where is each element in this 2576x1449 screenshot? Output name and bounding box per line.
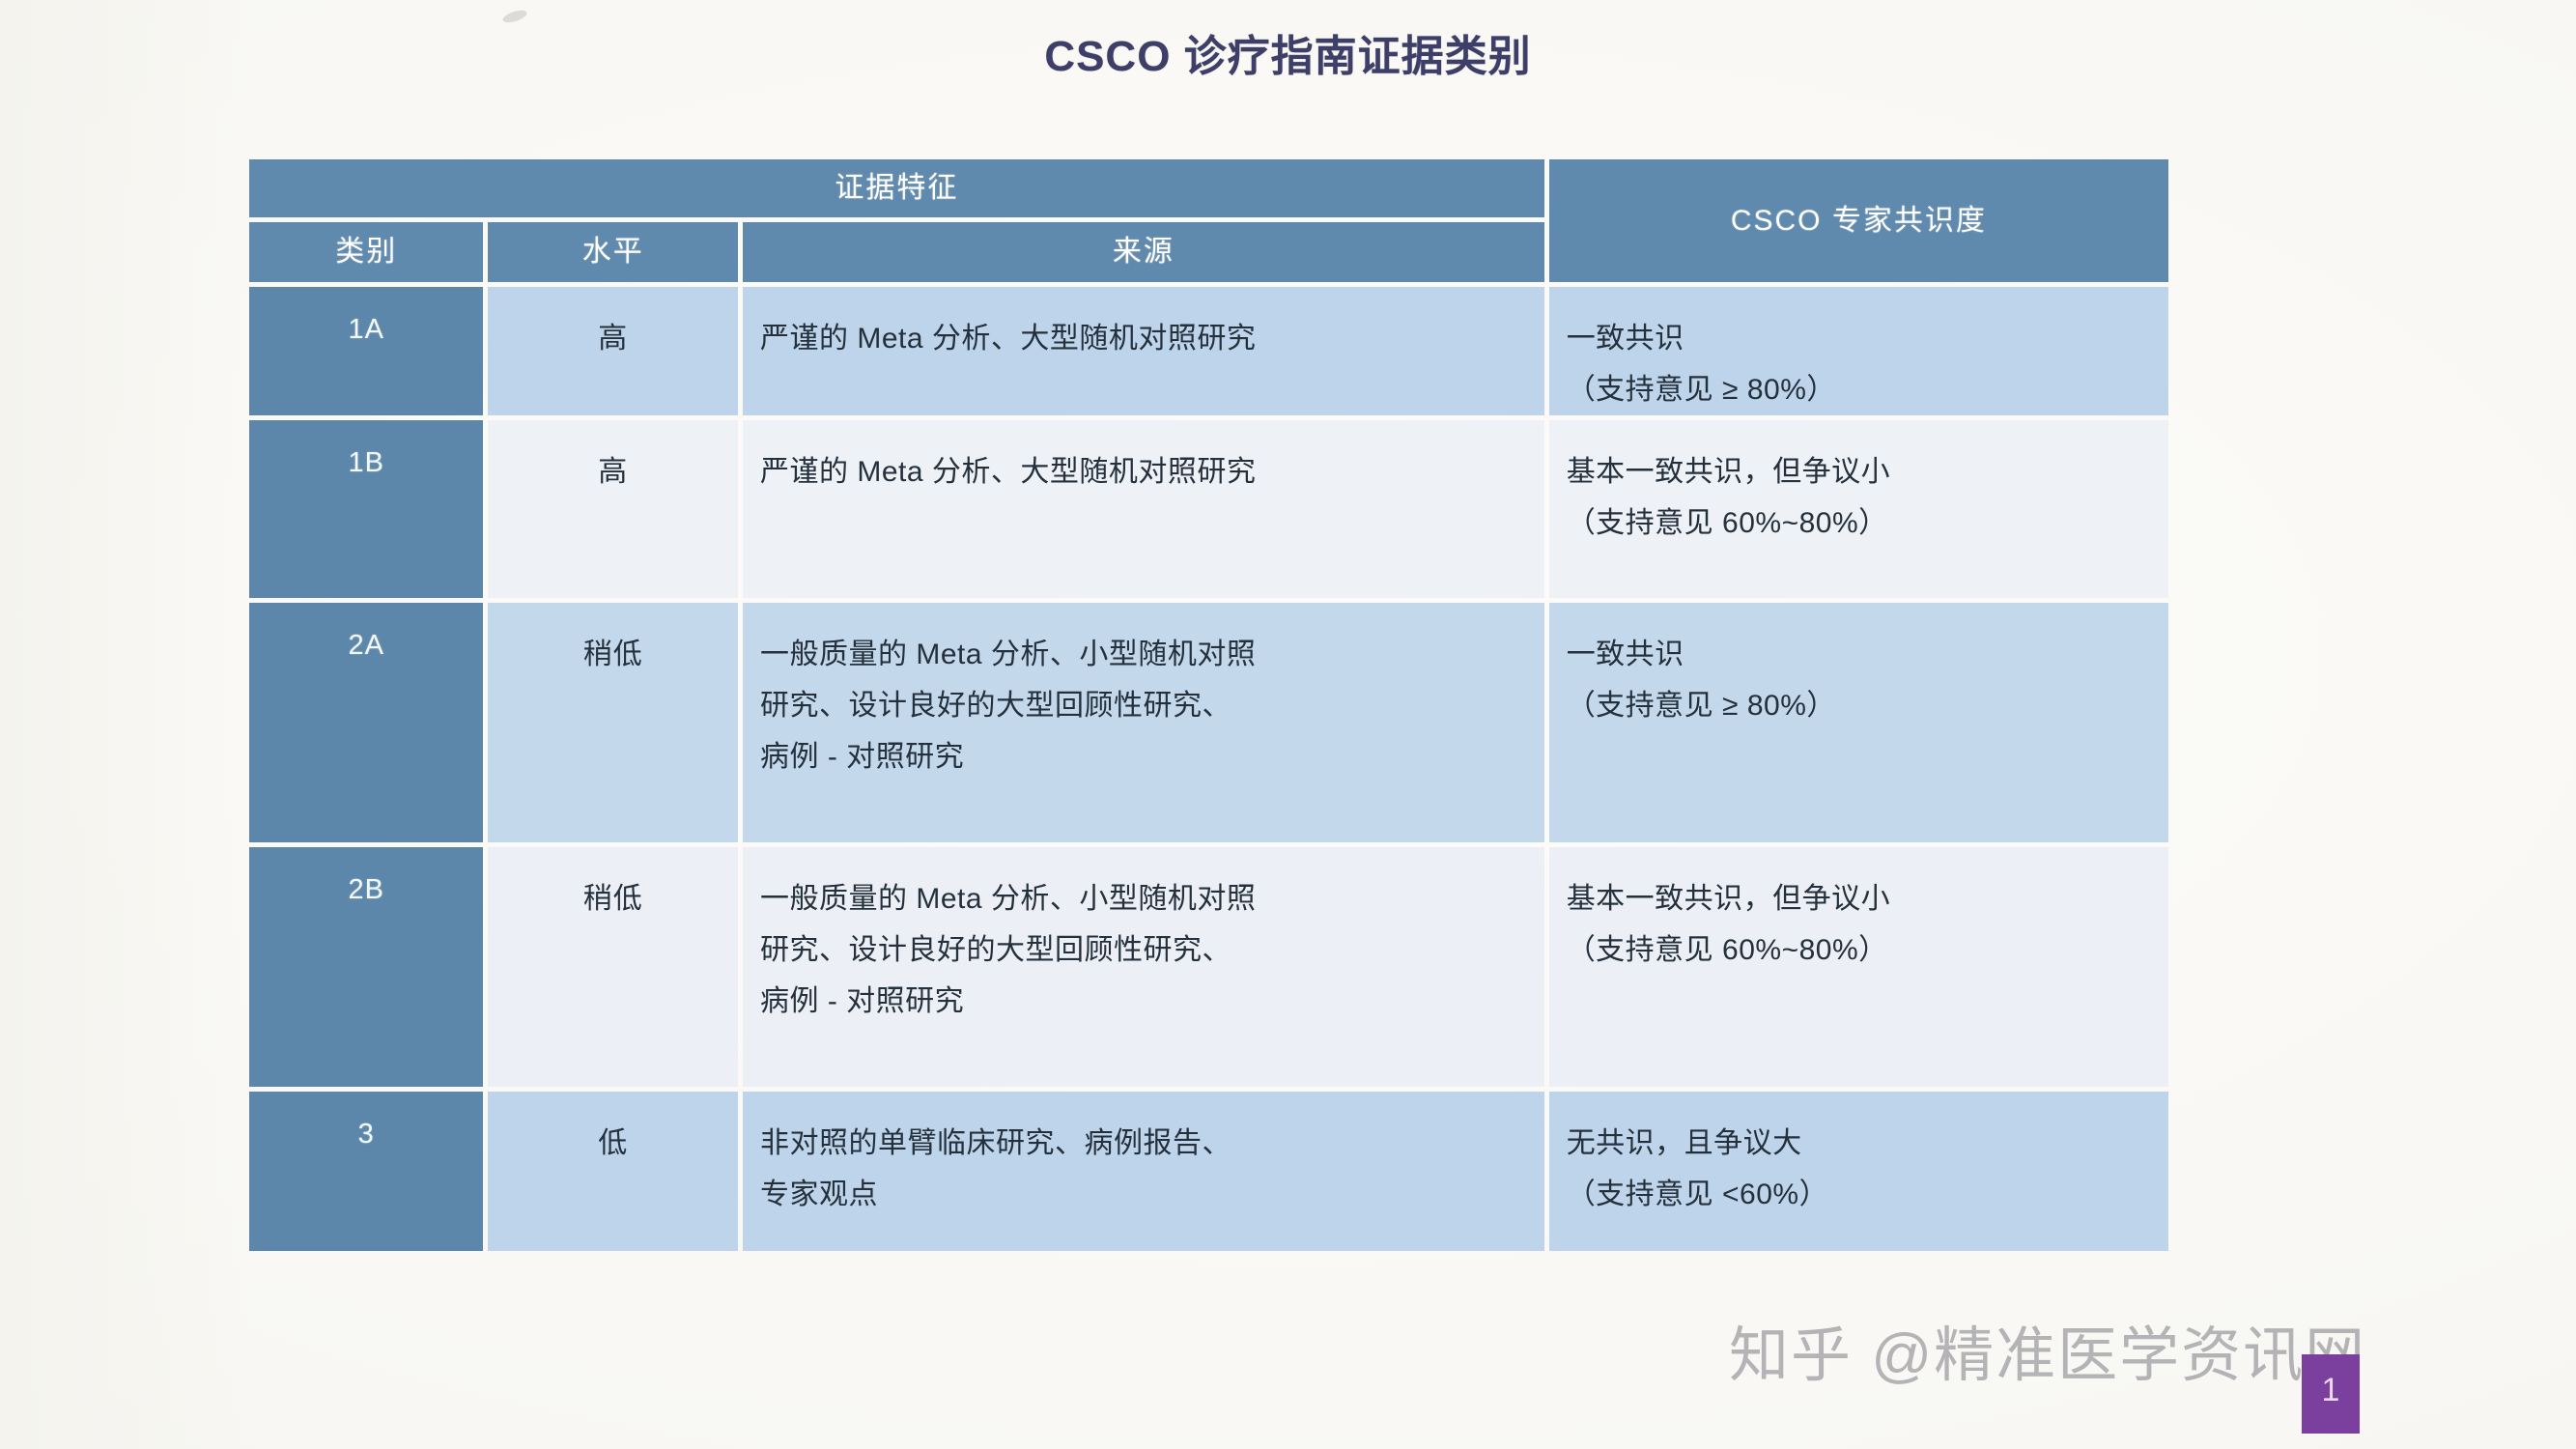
cell-category: 1B (249, 420, 483, 598)
consensus-line: 一致共识 (1567, 629, 2155, 680)
cell-consensus: 基本一致共识，但争议小 （支持意见 60%~80%） (1549, 420, 2168, 598)
page-number-badge: 1 (2302, 1354, 2360, 1434)
cell-level: 低 (488, 1092, 738, 1251)
level-label: 低 (488, 1092, 738, 1169)
table-row: 2B 稍低 一般质量的 Meta 分析、小型随机对照 研究、设计良好的大型回顾性… (249, 847, 2168, 1087)
header-category: 类别 (249, 222, 483, 282)
source-line: 严谨的 Meta 分析、大型随机对照研究 (760, 446, 1529, 497)
source-line: 一般质量的 Meta 分析、小型随机对照 (760, 629, 1529, 680)
header-level: 水平 (488, 222, 738, 282)
cell-level: 稍低 (488, 603, 738, 842)
cell-category: 2A (249, 603, 483, 842)
source-line: 一般质量的 Meta 分析、小型随机对照 (760, 873, 1529, 924)
cell-consensus: 基本一致共识，但争议小 （支持意见 60%~80%） (1549, 847, 2168, 1087)
consensus-line: （支持意见 ≥ 80%） (1567, 680, 2155, 731)
table-header-row-group: 证据特征 CSCO 专家共识度 (249, 159, 2168, 217)
consensus-line: （支持意见 ≥ 80%） (1567, 364, 2155, 415)
cell-source: 严谨的 Meta 分析、大型随机对照研究 (743, 287, 1544, 415)
cell-consensus: 一致共识 （支持意见 ≥ 80%） (1549, 603, 2168, 842)
header-csco-consensus: CSCO 专家共识度 (1549, 159, 2168, 282)
table-row: 1B 高 严谨的 Meta 分析、大型随机对照研究 基本一致共识，但争议小 （支… (249, 420, 2168, 598)
header-evidence-characteristics: 证据特征 (249, 159, 1544, 217)
cell-consensus: 无共识，且争议大 （支持意见 <60%） (1549, 1092, 2168, 1251)
source-line: 病例 - 对照研究 (760, 731, 1529, 782)
table-row: 1A 高 严谨的 Meta 分析、大型随机对照研究 一致共识 （支持意见 ≥ 8… (249, 287, 2168, 415)
cell-level: 高 (488, 420, 738, 598)
consensus-line: （支持意见 <60%） (1567, 1169, 2155, 1220)
category-label: 1B (249, 420, 483, 479)
level-label: 稍低 (488, 603, 738, 680)
consensus-line: （支持意见 60%~80%） (1567, 924, 2155, 976)
page-title: CSCO 诊疗指南证据类别 (0, 21, 2576, 83)
category-label: 2A (249, 603, 483, 662)
source-line: 非对照的单臂临床研究、病例报告、 (760, 1118, 1529, 1169)
level-label: 稍低 (488, 847, 738, 924)
cell-consensus: 一致共识 （支持意见 ≥ 80%） (1549, 287, 2168, 415)
cell-category: 1A (249, 287, 483, 415)
cell-source: 一般质量的 Meta 分析、小型随机对照 研究、设计良好的大型回顾性研究、 病例… (743, 603, 1544, 842)
table-row: 3 低 非对照的单臂临床研究、病例报告、 专家观点 无共识，且争议大 （支持意见… (249, 1092, 2168, 1251)
table-row: 2A 稍低 一般质量的 Meta 分析、小型随机对照 研究、设计良好的大型回顾性… (249, 603, 2168, 842)
cell-category: 2B (249, 847, 483, 1087)
source-line: 研究、设计良好的大型回顾性研究、 (760, 924, 1529, 976)
level-label: 高 (488, 420, 738, 497)
consensus-line: 基本一致共识，但争议小 (1567, 873, 2155, 924)
source-line: 研究、设计良好的大型回顾性研究、 (760, 680, 1529, 731)
table-head: 证据特征 CSCO 专家共识度 类别 水平 来源 (249, 159, 2168, 282)
consensus-line: 一致共识 (1567, 313, 2155, 364)
category-label: 1A (249, 287, 483, 346)
cell-source: 严谨的 Meta 分析、大型随机对照研究 (743, 420, 1544, 598)
category-label: 3 (249, 1092, 483, 1151)
source-line: 严谨的 Meta 分析、大型随机对照研究 (760, 313, 1529, 364)
cell-source: 一般质量的 Meta 分析、小型随机对照 研究、设计良好的大型回顾性研究、 病例… (743, 847, 1544, 1087)
source-line: 专家观点 (760, 1169, 1529, 1220)
consensus-line: 基本一致共识，但争议小 (1567, 446, 2155, 497)
cell-level: 高 (488, 287, 738, 415)
cell-level: 稍低 (488, 847, 738, 1087)
paper-edge-shadow (0, 0, 251, 1449)
level-label: 高 (488, 287, 738, 364)
category-label: 2B (249, 847, 483, 906)
source-line: 病例 - 对照研究 (760, 976, 1529, 1027)
header-source: 来源 (743, 222, 1544, 282)
consensus-line: 无共识，且争议大 (1567, 1118, 2155, 1169)
table-body: 1A 高 严谨的 Meta 分析、大型随机对照研究 一致共识 （支持意见 ≥ 8… (249, 287, 2168, 1251)
evidence-table: 证据特征 CSCO 专家共识度 类别 水平 来源 1A 高 严谨的 Meta 分… (244, 155, 2173, 1256)
consensus-line: （支持意见 60%~80%） (1567, 497, 2155, 549)
cell-source: 非对照的单臂临床研究、病例报告、 专家观点 (743, 1092, 1544, 1251)
cell-category: 3 (249, 1092, 483, 1251)
watermark: 知乎 @精准医学资讯网 (1729, 1306, 2366, 1393)
evidence-table-container: 证据特征 CSCO 专家共识度 类别 水平 来源 1A 高 严谨的 Meta 分… (244, 155, 2173, 1256)
